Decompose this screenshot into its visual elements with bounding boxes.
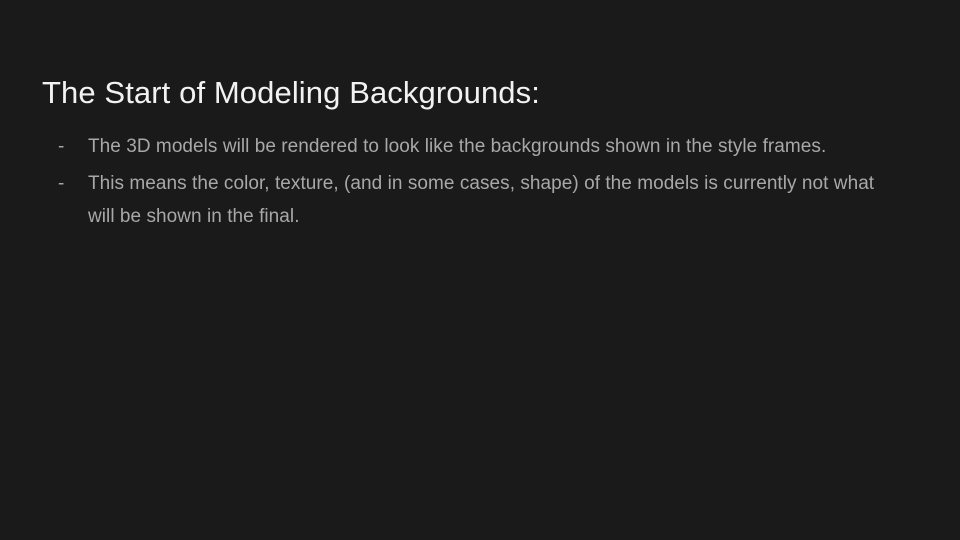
list-item: - This means the color, texture, (and in… [56,167,886,233]
presentation-slide: The Start of Modeling Backgrounds: - The… [0,0,960,540]
bullet-text: The 3D models will be rendered to look l… [88,130,880,163]
bullet-dash-icon: - [56,167,88,200]
bullet-list: - The 3D models will be rendered to look… [56,130,886,237]
page-title: The Start of Modeling Backgrounds: [42,74,540,112]
bullet-text: This means the color, texture, (and in s… [88,167,880,233]
bullet-dash-icon: - [56,130,88,163]
list-item: - The 3D models will be rendered to look… [56,130,886,163]
